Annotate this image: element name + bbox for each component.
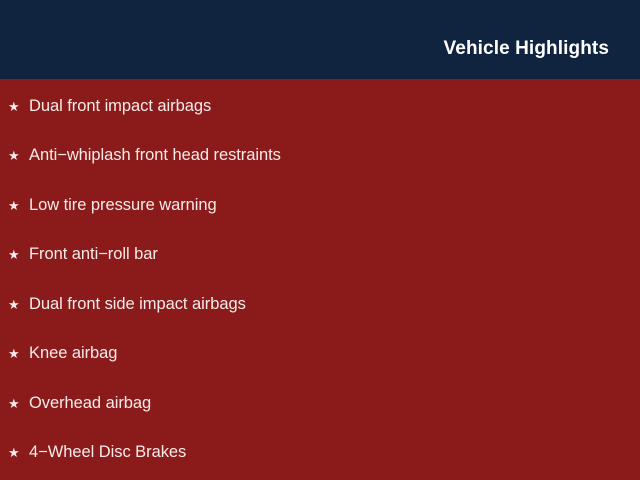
star-icon: ★ — [8, 199, 29, 212]
star-icon: ★ — [8, 248, 29, 261]
list-item: ★Dual front side impact airbags — [8, 293, 246, 315]
list-item: ★Overhead airbag — [8, 392, 151, 414]
list-item-label: 4−Wheel Disc Brakes — [29, 444, 186, 461]
list-item-label: Anti−whiplash front head restraints — [29, 147, 281, 164]
star-icon: ★ — [8, 100, 29, 113]
highlights-list: ★Dual front impact airbags★Anti−whiplash… — [0, 79, 640, 480]
list-item: ★Front anti−roll bar — [8, 244, 158, 266]
star-icon: ★ — [8, 298, 29, 311]
vehicle-highlights-slide: Vehicle Highlights ★Dual front impact ai… — [0, 0, 640, 480]
list-item-label: Front anti−roll bar — [29, 246, 158, 263]
list-item-label: Knee airbag — [29, 345, 117, 362]
list-item: ★Dual front impact airbags — [8, 95, 211, 117]
star-icon: ★ — [8, 446, 29, 459]
list-item-label: Low tire pressure warning — [29, 197, 217, 214]
star-icon: ★ — [8, 347, 29, 360]
header-band: Vehicle Highlights — [0, 0, 640, 79]
list-item-label: Dual front impact airbags — [29, 98, 211, 115]
list-item: ★Anti−whiplash front head restraints — [8, 145, 281, 167]
list-item: ★4−Wheel Disc Brakes — [8, 442, 186, 464]
list-item-label: Dual front side impact airbags — [29, 296, 246, 313]
list-item-label: Overhead airbag — [29, 395, 151, 412]
list-item: ★Low tire pressure warning — [8, 194, 217, 216]
star-icon: ★ — [8, 397, 29, 410]
star-icon: ★ — [8, 149, 29, 162]
page-title: Vehicle Highlights — [444, 39, 609, 58]
list-item: ★Knee airbag — [8, 343, 117, 365]
